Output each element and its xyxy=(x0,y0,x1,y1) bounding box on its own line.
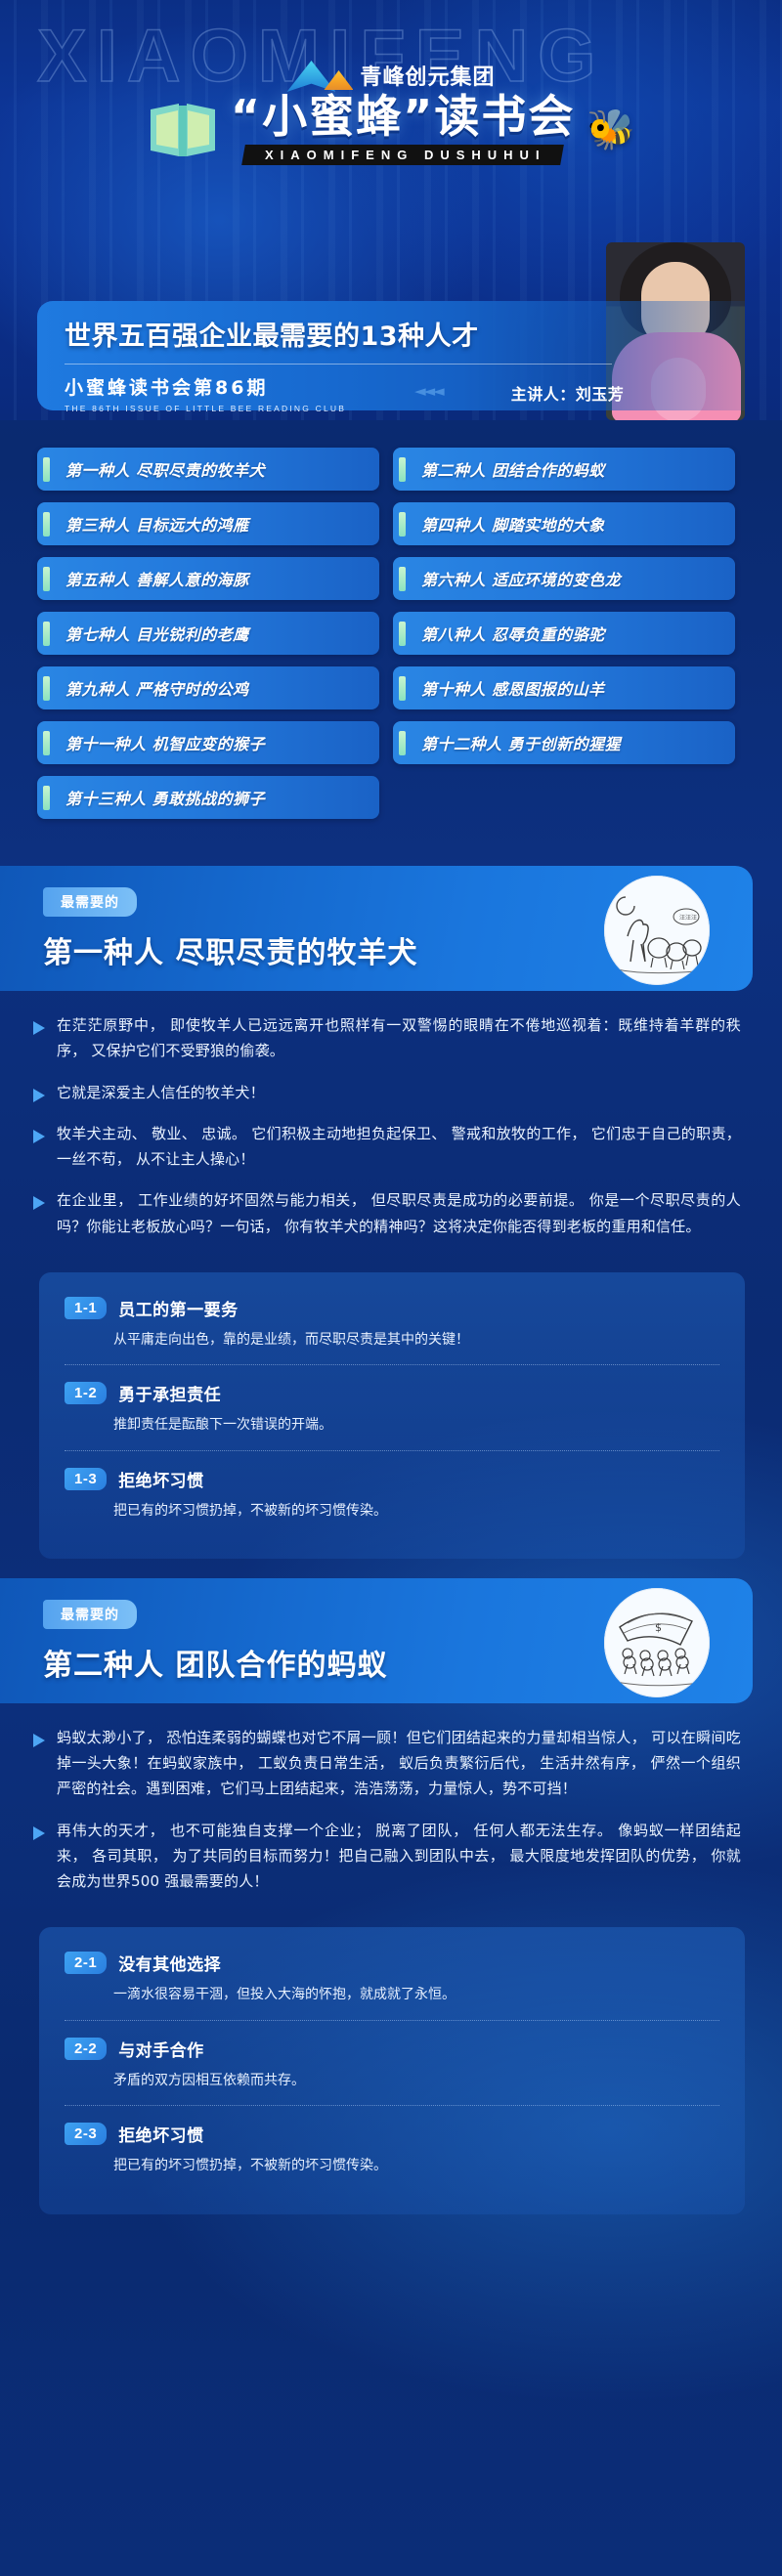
sub-item[interactable]: 2-2与对手合作矛盾的双方因相互依赖而共存。 xyxy=(65,2020,719,2105)
talent-chip[interactable]: 第十种人 感恩图报的山羊 xyxy=(393,666,735,709)
sub-item-title: 拒绝坏习惯 xyxy=(118,2122,204,2146)
sub-item-title: 员工的第一要务 xyxy=(118,1296,239,1320)
chip-label: 第六种人 适应环境的变色龙 xyxy=(421,567,621,590)
sub-item[interactable]: 2-1没有其他选择一滴水很容易干涸，但投入大海的怀抱，就成就了永恒。 xyxy=(65,1949,719,2019)
sub-item-desc: 推卸责任是酝酿下一次错误的开端。 xyxy=(113,1414,719,1436)
poster-page: XIAOMIFENG 青峰创元集团 “小蜜蜂”读书会 XIAOMIFE xyxy=(0,0,782,2576)
chip-accent-bar xyxy=(399,567,406,591)
chip-accent-bar xyxy=(43,731,50,755)
chip-label: 第五种人 善解人意的海豚 xyxy=(65,567,249,590)
sub-item[interactable]: 1-3拒绝坏习惯把已有的坏习惯扔掉，不被新的坏习惯传染。 xyxy=(65,1450,719,1535)
sub-item-desc: 从平庸走向出色，靠的是业绩，而尽职尽责是其中的关键！ xyxy=(113,1329,719,1351)
title-banner: 世界五百强企业最需要的13种人才 小蜜蜂读书会第86期 THE 86TH ISS… xyxy=(37,301,745,410)
talent-chip[interactable]: 第一种人 尽职尽责的牧羊犬 xyxy=(37,448,379,491)
sub-item-number: 2-2 xyxy=(65,2038,107,2060)
chip-accent-bar xyxy=(399,731,406,755)
chip-accent-bar xyxy=(399,457,406,482)
talent-chip[interactable]: 第十一种人 机智应变的猴子 xyxy=(37,721,379,764)
bullet-item: 它就是深爱主人信任的牧羊犬！ xyxy=(33,1080,741,1105)
chip-accent-bar xyxy=(43,622,50,646)
section-badge: 最需要的 xyxy=(43,887,137,917)
mountain-logo-icon xyxy=(286,59,351,92)
talent-chip[interactable]: 第四种人 脚踏实地的大象 xyxy=(393,502,735,545)
triangle-bullet-icon xyxy=(33,1021,45,1035)
section-header: 最需要的第二种人 团队合作的蚂蚁$ xyxy=(0,1578,753,1703)
issue-label-en: THE 86TH ISSUE OF LITTLE BEE READING CLU… xyxy=(65,404,346,413)
bullet-item: 再伟大的天才， 也不可能独自支撑一个企业； 脱离了团队， 任何人都无法生存。 像… xyxy=(33,1818,741,1895)
bullet-text: 蚂蚁太渺小了， 恐怕连柔弱的蝴蝶也对它不屑一顾！但它们团结起来的力量却相当惊人，… xyxy=(57,1725,741,1802)
club-pinyin-band: XIAOMIFENG DUSHUHUI xyxy=(241,145,563,165)
chip-label: 第二种人 团结合作的蚂蚁 xyxy=(421,457,605,481)
talent-chip[interactable]: 第三种人 目标远大的鸿雁 xyxy=(37,502,379,545)
bullet-text: 在茫茫原野中， 即使牧羊人已远远离开也照样有一双警惕的眼睛在不倦地巡视着：既维持… xyxy=(57,1012,741,1064)
club-title-block: “小蜜蜂”读书会 XIAOMIFENG DUSHUHUI 🐝 xyxy=(0,94,782,165)
sub-item-number: 2-1 xyxy=(65,1952,107,1974)
chip-accent-bar xyxy=(43,512,50,537)
open-book-icon xyxy=(147,100,219,160)
bee-mascot-icon: 🐝 xyxy=(586,110,635,150)
talent-chip[interactable]: 第十三种人 勇敢挑战的狮子 xyxy=(37,776,379,819)
sub-item-title: 没有其他选择 xyxy=(118,1951,221,1975)
talent-chip[interactable]: 第七种人 目光锐利的老鹰 xyxy=(37,612,379,655)
talent-list-section: 第一种人 尽职尽责的牧羊犬第二种人 团结合作的蚂蚁第三种人 目标远大的鸿雁第四种… xyxy=(0,420,782,852)
triangle-bullet-icon xyxy=(33,1130,45,1143)
sub-item-title: 拒绝坏习惯 xyxy=(118,1467,204,1491)
talent-chip[interactable]: 第八种人 忍辱负重的骆驼 xyxy=(393,612,735,655)
club-title: “小蜜蜂”读书会 xyxy=(231,94,575,139)
hero-header: XIAOMIFENG 青峰创元集团 “小蜜蜂”读书会 XIAOMIFE xyxy=(0,0,782,420)
chip-label: 第十三种人 勇敢挑战的狮子 xyxy=(65,786,265,809)
chip-accent-bar xyxy=(43,567,50,591)
sub-item[interactable]: 2-3拒绝坏习惯把已有的坏习惯扔掉，不被新的坏习惯传染。 xyxy=(65,2105,719,2190)
section-subcard: 1-1员工的第一要务从平庸走向出色，靠的是业绩，而尽职尽责是其中的关键！1-2勇… xyxy=(39,1272,745,1559)
title-divider xyxy=(65,364,612,365)
bullet-item: 蚂蚁太渺小了， 恐怕连柔弱的蝴蝶也对它不屑一顾！但它们团结起来的力量却相当惊人，… xyxy=(33,1725,741,1802)
talent-chip-grid: 第一种人 尽职尽责的牧羊犬第二种人 团结合作的蚂蚁第三种人 目标远大的鸿雁第四种… xyxy=(37,448,745,819)
sub-item-number: 1-3 xyxy=(65,1468,107,1490)
talent-chip[interactable]: 第二种人 团结合作的蚂蚁 xyxy=(393,448,735,491)
sub-item-desc: 把已有的坏习惯扔掉，不被新的坏习惯传染。 xyxy=(113,2155,719,2176)
triangle-bullet-icon xyxy=(33,1826,45,1840)
club-pinyin: XIAOMIFENG DUSHUHUI xyxy=(265,148,546,162)
brand-name: 青峰创元集团 xyxy=(360,60,495,91)
sub-item-number: 1-1 xyxy=(65,1297,107,1319)
sub-item[interactable]: 1-1员工的第一要务从平庸走向出色，靠的是业绩，而尽职尽责是其中的关键！ xyxy=(65,1294,719,1364)
shepherd-dog-sketch-icon: 汪汪汪 xyxy=(604,876,710,985)
chip-label: 第十种人 感恩图报的山羊 xyxy=(421,676,605,700)
sub-item-title: 勇于承担责任 xyxy=(118,1381,221,1405)
page-title: 世界五百强企业最需要的13种人才 xyxy=(65,315,745,353)
ants-carrying-sketch-icon: $ xyxy=(604,1588,710,1697)
bullet-text: 再伟大的天才， 也不可能独自支撑一个企业； 脱离了团队， 任何人都无法生存。 像… xyxy=(57,1818,741,1895)
bullet-text: 它就是深爱主人信任的牧羊犬！ xyxy=(57,1080,265,1105)
triangle-bullet-icon xyxy=(33,1089,45,1102)
speaker-name: 主讲人：刘玉芳 xyxy=(511,373,625,405)
chip-accent-bar xyxy=(399,676,406,701)
section-subcard: 2-1没有其他选择一滴水很容易干涸，但投入大海的怀抱，就成就了永恒。2-2与对手… xyxy=(39,1927,745,2213)
talent-chip[interactable]: 第五种人 善解人意的海豚 xyxy=(37,557,379,600)
sub-item-desc: 把已有的坏习惯扔掉，不被新的坏习惯传染。 xyxy=(113,1500,719,1522)
sub-item-title: 与对手合作 xyxy=(118,2037,204,2061)
chip-label: 第十二种人 勇于创新的猩猩 xyxy=(421,731,621,754)
svg-text:汪汪汪: 汪汪汪 xyxy=(679,914,697,922)
chip-label: 第八种人 忍辱负重的骆驼 xyxy=(421,622,605,645)
sub-item-desc: 矛盾的双方因相互依赖而共存。 xyxy=(113,2070,719,2091)
bullet-text: 在企业里， 工作业绩的好坏固然与能力相关， 但尽职尽责是成功的必要前提。 你是一… xyxy=(57,1187,741,1239)
sections-root: 最需要的第一种人 尽职尽责的牧羊犬汪汪汪在茫茫原野中， 即使牧羊人已远远离开也照… xyxy=(0,866,782,2220)
sub-item-desc: 一滴水很容易干涸，但投入大海的怀抱，就成就了永恒。 xyxy=(113,1984,719,2005)
triangle-bullet-icon xyxy=(33,1196,45,1210)
talent-chip[interactable]: 第九种人 严格守时的公鸡 xyxy=(37,666,379,709)
chevron-decoration-icon: ◄◄◄ xyxy=(414,373,443,400)
chip-label: 第一种人 尽职尽责的牧羊犬 xyxy=(65,457,265,481)
section-header: 最需要的第一种人 尽职尽责的牧羊犬汪汪汪 xyxy=(0,866,753,991)
sub-item[interactable]: 1-2勇于承担责任推卸责任是酝酿下一次错误的开端。 xyxy=(65,1364,719,1449)
bullet-text: 牧羊犬主动、 敬业、 忠诚。 它们积极主动地担负起保卫、 警戒和放牧的工作， 它… xyxy=(57,1121,741,1173)
issue-label-cn: 小蜜蜂读书会第86期 xyxy=(65,373,346,400)
chip-accent-bar xyxy=(43,457,50,482)
bullet-item: 在企业里， 工作业绩的好坏固然与能力相关， 但尽职尽责是成功的必要前提。 你是一… xyxy=(33,1187,741,1239)
chip-label: 第三种人 目标远大的鸿雁 xyxy=(65,512,249,536)
sub-item-number: 2-3 xyxy=(65,2123,107,2145)
chip-label: 第九种人 严格守时的公鸡 xyxy=(65,676,249,700)
talent-chip[interactable]: 第十二种人 勇于创新的猩猩 xyxy=(393,721,735,764)
triangle-bullet-icon xyxy=(33,1734,45,1747)
chip-label: 第四种人 脚踏实地的大象 xyxy=(421,512,605,536)
chip-label: 第七种人 目光锐利的老鹰 xyxy=(65,622,249,645)
talent-section: 最需要的第一种人 尽职尽责的牧羊犬汪汪汪在茫茫原野中， 即使牧羊人已远远离开也照… xyxy=(0,866,782,1565)
sub-item-number: 1-2 xyxy=(65,1382,107,1404)
talent-chip[interactable]: 第六种人 适应环境的变色龙 xyxy=(393,557,735,600)
bullet-item: 在茫茫原野中， 即使牧羊人已远远离开也照样有一双警惕的眼睛在不倦地巡视着：既维持… xyxy=(33,1012,741,1064)
section-bullets: 在茫茫原野中， 即使牧羊人已远远离开也照样有一双警惕的眼睛在不倦地巡视着：既维持… xyxy=(0,991,782,1259)
section-bullets: 蚂蚁太渺小了， 恐怕连柔弱的蝴蝶也对它不屑一顾！但它们团结起来的力量却相当惊人，… xyxy=(0,1703,782,1914)
bullet-item: 牧羊犬主动、 敬业、 忠诚。 它们积极主动地担负起保卫、 警戒和放牧的工作， 它… xyxy=(33,1121,741,1173)
brand-row: 青峰创元集团 xyxy=(0,59,782,92)
chip-label: 第十一种人 机智应变的猴子 xyxy=(65,731,265,754)
chip-accent-bar xyxy=(43,786,50,810)
chip-accent-bar xyxy=(43,676,50,701)
chip-accent-bar xyxy=(399,512,406,537)
chip-accent-bar xyxy=(399,622,406,646)
svg-text:$: $ xyxy=(655,1621,662,1634)
section-badge: 最需要的 xyxy=(43,1600,137,1629)
talent-section: 最需要的第二种人 团队合作的蚂蚁$蚂蚁太渺小了， 恐怕连柔弱的蝴蝶也对它不屑一顾… xyxy=(0,1578,782,2220)
